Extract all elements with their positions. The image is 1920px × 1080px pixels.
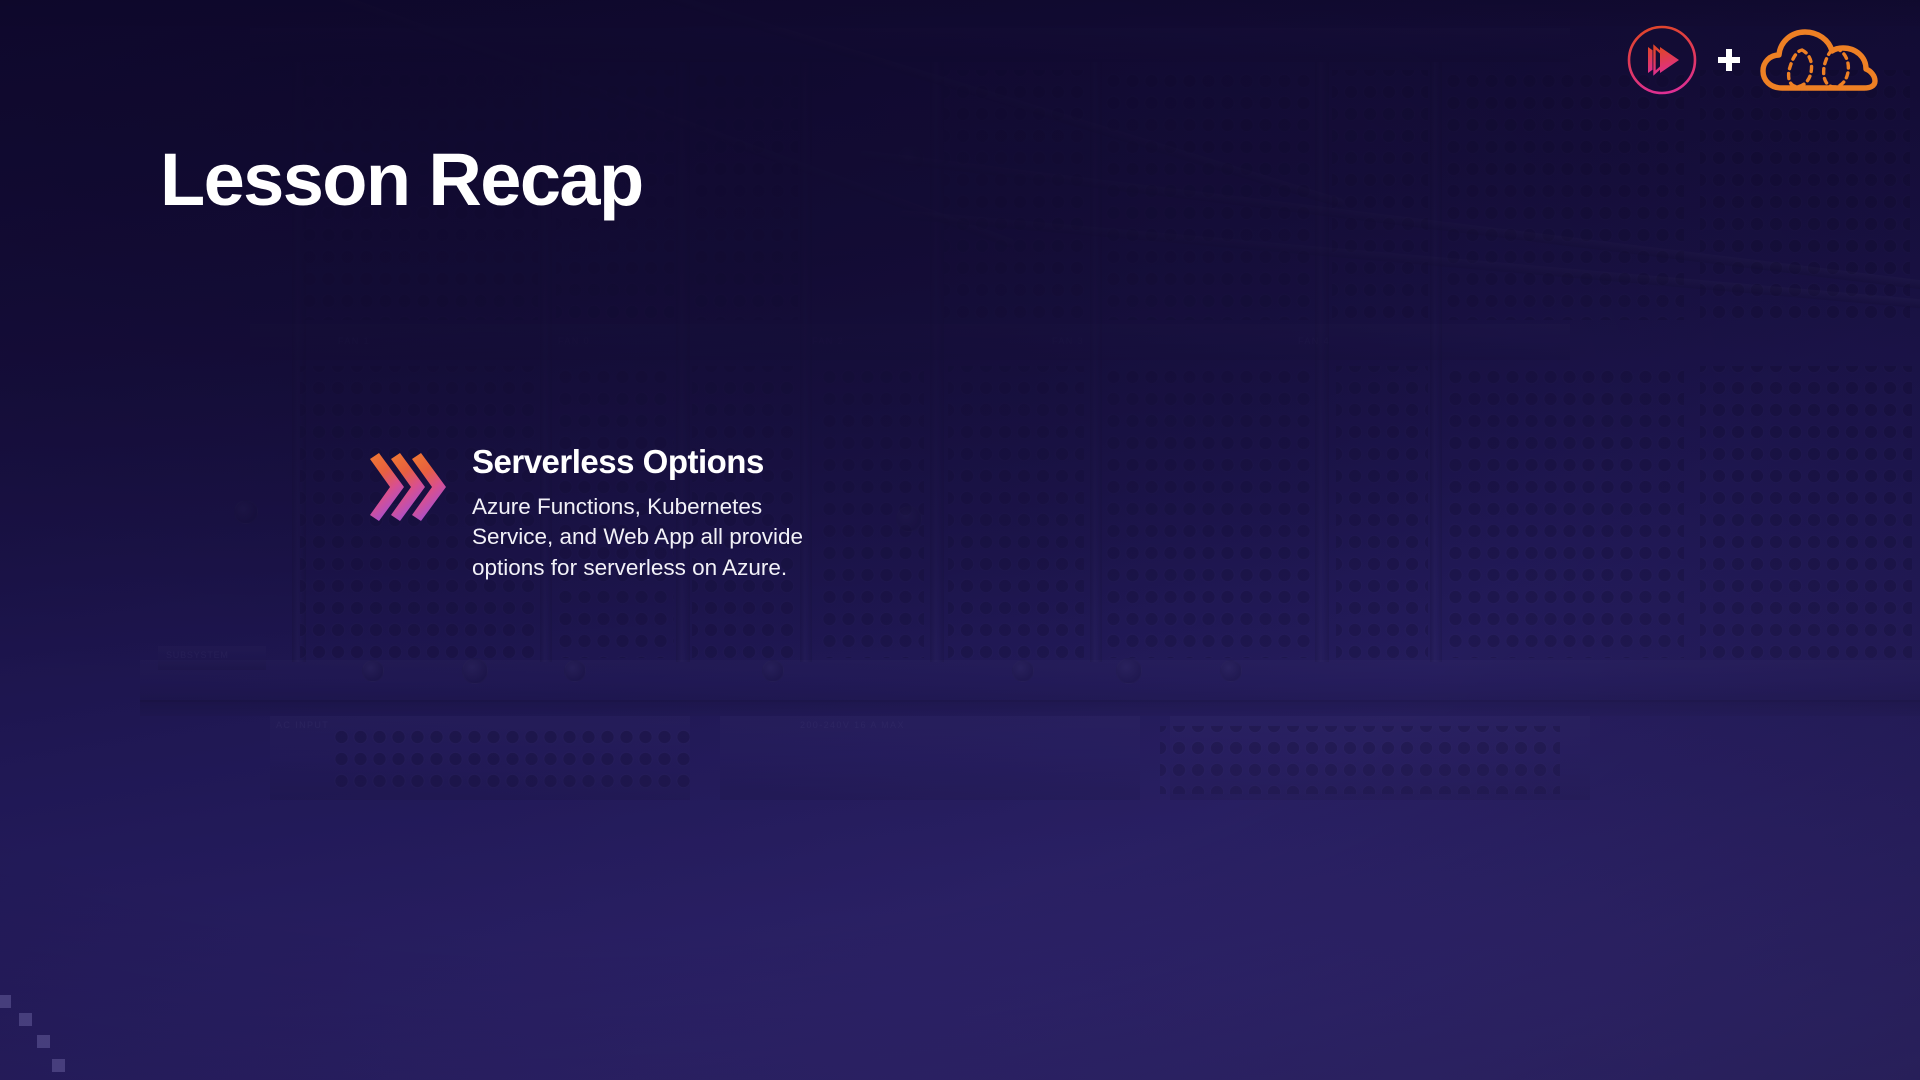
a-cloud-guru-logo [1760,24,1878,96]
page-title: Lesson Recap [160,142,643,217]
plus-separator-icon [1716,47,1742,73]
slide-canvas: FAN 1 FAN 0 FAN 2 FAN 3 FAN 4 A [0,0,1920,1080]
triple-chevron-right-icon [368,449,446,527]
pluralsight-play-logo [1626,24,1698,96]
brand-lockup [1626,24,1878,96]
recap-point-text: Azure Functions, Kubernetes Service, and… [472,492,817,584]
recap-point-heading: Serverless Options [472,443,817,481]
recap-point-card: Serverless Options Azure Functions, Kube… [368,443,928,584]
recap-point-body: Serverless Options Azure Functions, Kube… [472,443,817,584]
